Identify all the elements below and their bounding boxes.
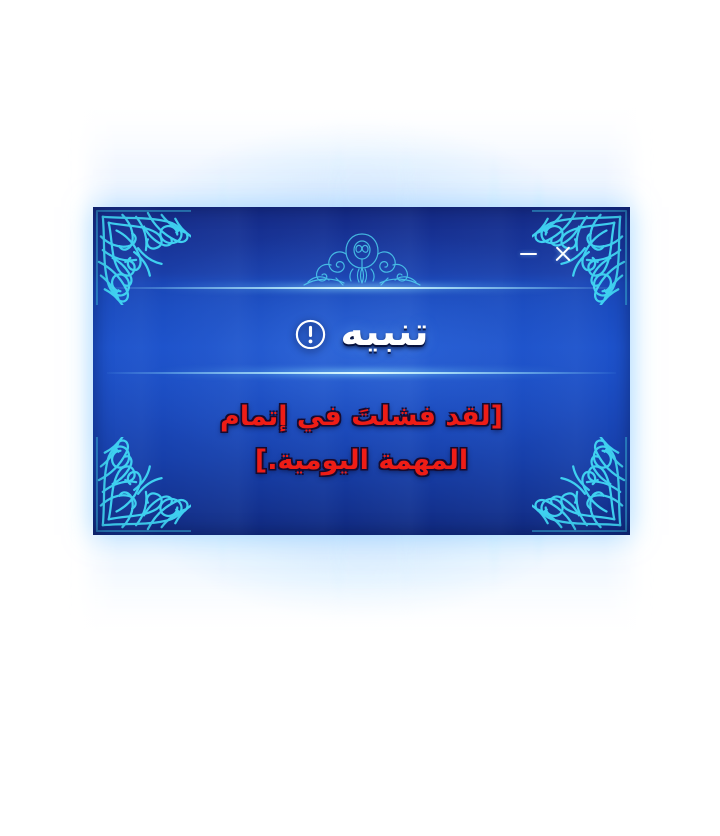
- aura-fade-bottom: [68, 580, 654, 650]
- window-controls: [518, 244, 573, 264]
- close-icon: [554, 245, 572, 263]
- screen-canvas: تنبيه [لقد فشلتَ في إتمام المهمة اليومية…: [0, 0, 720, 836]
- exclamation-circle-icon: [294, 318, 327, 351]
- warning-dialog: تنبيه [لقد فشلتَ في إتمام المهمة اليومية…: [93, 207, 630, 535]
- minimize-icon: [520, 253, 537, 255]
- aura-fade-top: [68, 90, 654, 160]
- dialog-message: [لقد فشلتَ في إتمام المهمة اليومية.]: [139, 395, 584, 482]
- page-title: تنبيه: [340, 312, 428, 356]
- minimize-button[interactable]: [518, 244, 538, 264]
- dialog-title-row: تنبيه: [93, 303, 630, 365]
- dialog-message-line-1: [لقد فشلتَ في إتمام: [139, 395, 584, 439]
- dialog-message-line-2: المهمة اليومية.]: [139, 439, 584, 483]
- close-button[interactable]: [553, 244, 573, 264]
